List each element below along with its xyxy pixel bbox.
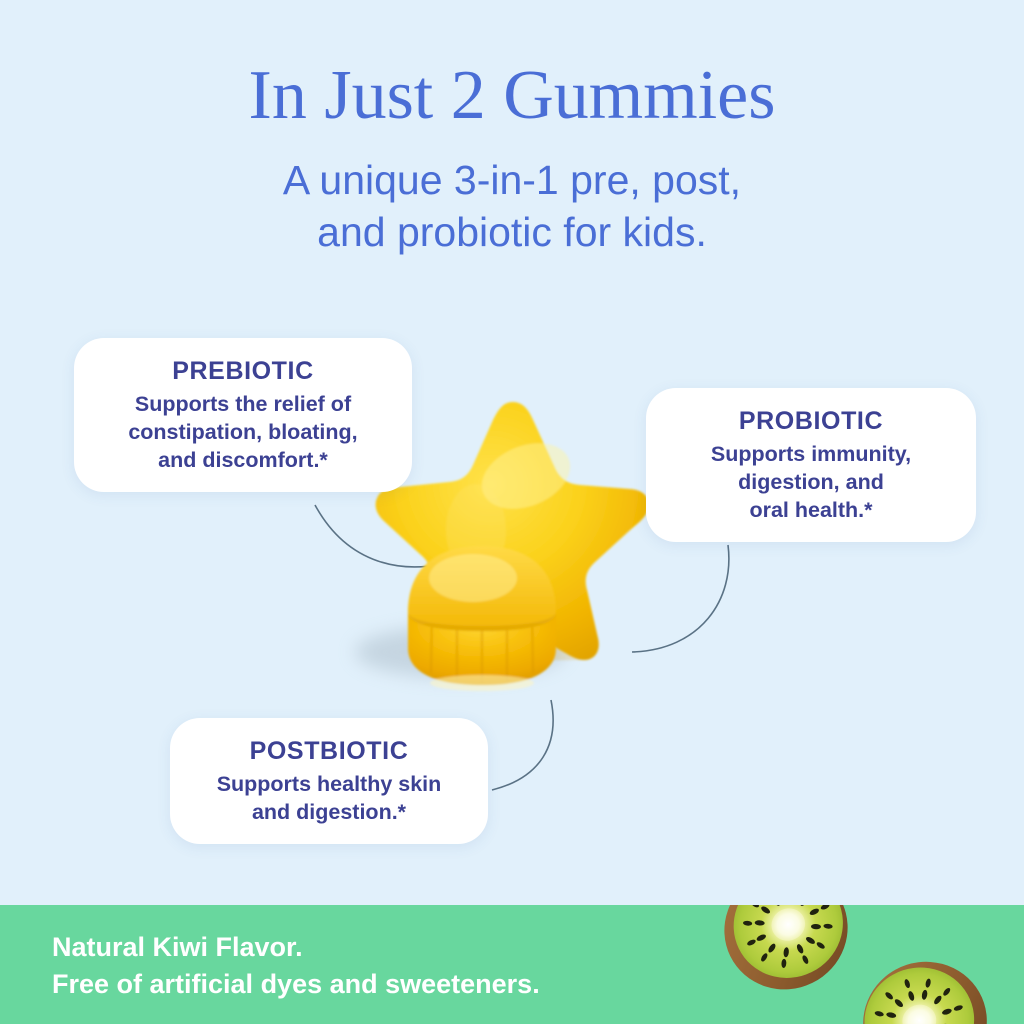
footer-line-2: Free of artificial dyes and sweeteners. xyxy=(52,966,540,1003)
footer-banner: Natural Kiwi Flavor. Free of artificial … xyxy=(0,905,1024,1024)
card-line-2: constipation, bloating, xyxy=(94,418,392,446)
dome-gummy xyxy=(408,546,556,691)
callout-card-probiotic[interactable]: PROBIOTIC Supports immunity, digestion, … xyxy=(646,388,976,542)
page-subtitle: A unique 3-in-1 pre, post, and probiotic… xyxy=(0,154,1024,258)
card-body-prebiotic: Supports the relief of constipation, blo… xyxy=(94,390,392,474)
card-line-3: oral health.* xyxy=(666,496,956,524)
card-title-prebiotic: PREBIOTIC xyxy=(94,354,392,388)
card-line-1: Supports immunity, xyxy=(666,440,956,468)
kiwi-slice-1 xyxy=(704,905,868,1010)
page-title: In Just 2 Gummies xyxy=(0,56,1024,136)
card-line-1: Supports healthy skin xyxy=(190,770,468,798)
kiwi-decoration xyxy=(690,905,1024,1024)
card-title-postbiotic: POSTBIOTIC xyxy=(190,734,468,768)
dome-gummy-base-gloss xyxy=(430,675,534,691)
card-line-3: and discomfort.* xyxy=(94,446,392,474)
dome-gummy-highlight xyxy=(429,554,517,602)
subtitle-line-2: and probiotic for kids. xyxy=(0,206,1024,258)
card-body-probiotic: Supports immunity, digestion, and oral h… xyxy=(666,440,956,524)
kiwi-slice-2 xyxy=(847,946,1002,1024)
callout-card-postbiotic[interactable]: POSTBIOTIC Supports healthy skin and dig… xyxy=(170,718,488,844)
card-line-2: digestion, and xyxy=(666,468,956,496)
callout-card-prebiotic[interactable]: PREBIOTIC Supports the relief of constip… xyxy=(74,338,412,492)
card-line-2: and digestion.* xyxy=(190,798,468,826)
connector-postbiotic xyxy=(492,700,553,790)
card-line-1: Supports the relief of xyxy=(94,390,392,418)
card-body-postbiotic: Supports healthy skin and digestion.* xyxy=(190,770,468,826)
card-title-probiotic: PROBIOTIC xyxy=(666,404,956,438)
headline-block: In Just 2 Gummies A unique 3-in-1 pre, p… xyxy=(0,56,1024,258)
subtitle-line-1: A unique 3-in-1 pre, post, xyxy=(0,154,1024,206)
infographic-canvas: In Just 2 Gummies A unique 3-in-1 pre, p… xyxy=(0,0,1024,1024)
footer-text: Natural Kiwi Flavor. Free of artificial … xyxy=(52,929,540,1003)
footer-line-1: Natural Kiwi Flavor. xyxy=(52,929,540,966)
